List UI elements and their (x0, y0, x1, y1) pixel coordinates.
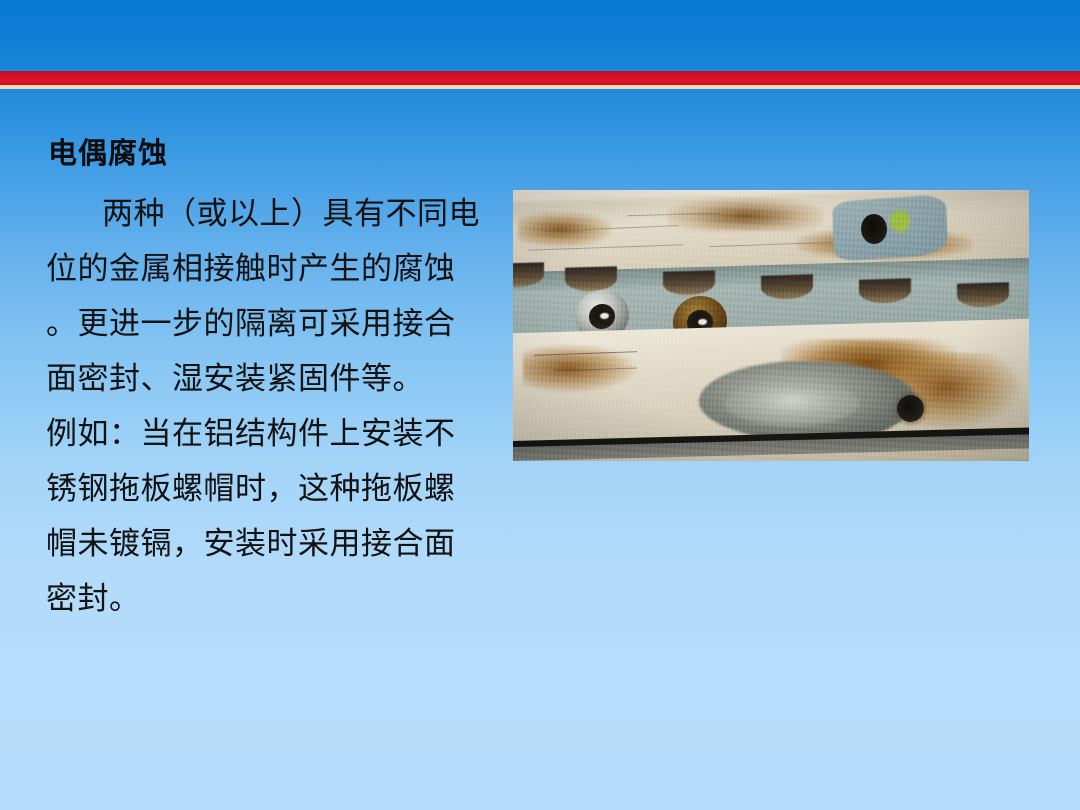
slide-content: 电偶腐蚀 两种（或以上）具有不同电 位的金属相接触时产生的腐蚀 。更进一步的隔离… (0, 0, 1080, 810)
body-paragraph: 两种（或以上）具有不同电 位的金属相接触时产生的腐蚀 。更进一步的隔离可采用接合… (46, 186, 476, 626)
body-line: 密封。 (46, 571, 476, 626)
photo-blue-patch (832, 194, 948, 261)
body-line: 面密封、湿安装紧固件等。 (46, 351, 476, 406)
photo-green-mark (890, 210, 911, 232)
photo-corrosion-blotch (725, 380, 859, 426)
corrosion-photo (513, 190, 1029, 461)
body-line: 帽未镀镉，安装时采用接合面 (46, 516, 476, 571)
body-line: 锈钢拖板螺帽时，这种拖板螺 (46, 461, 476, 516)
photo-image (513, 190, 1029, 461)
body-line: 例如：当在铝结构件上安装不 (46, 406, 476, 461)
page-title: 电偶腐蚀 (48, 134, 168, 174)
body-line: 。更进一步的隔离可采用接合 (46, 296, 476, 351)
body-line: 两种（或以上）具有不同电 (46, 186, 476, 241)
body-line: 位的金属相接触时产生的腐蚀 (46, 241, 476, 296)
slide-canvas: 电偶腐蚀 两种（或以上）具有不同电 位的金属相接触时产生的腐蚀 。更进一步的隔离… (0, 0, 1080, 810)
fastener-highlight (698, 318, 707, 324)
